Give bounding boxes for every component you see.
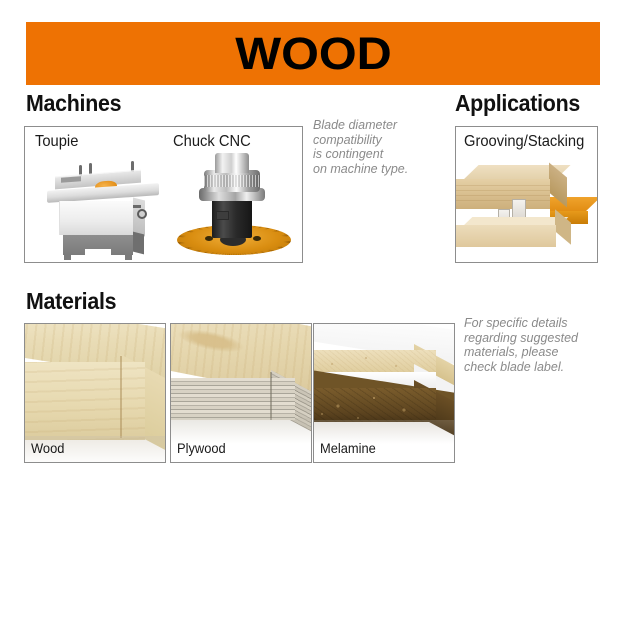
grooving-stacking-icon bbox=[456, 159, 598, 262]
application-label-grooving-stacking: Grooving/Stacking bbox=[464, 133, 584, 151]
material-label-plywood: Plywood bbox=[177, 440, 226, 456]
spindle-moulder-icon bbox=[45, 161, 161, 259]
wood-info-panel: WOOD Machines Applications Toupie C bbox=[0, 0, 621, 622]
machine-label-toupie: Toupie bbox=[35, 133, 78, 151]
applications-card: Grooving/Stacking bbox=[455, 126, 598, 263]
material-card-wood: Wood bbox=[24, 323, 166, 463]
material-card-plywood: Plywood bbox=[170, 323, 312, 463]
materials-section-heading: Materials bbox=[26, 288, 116, 315]
material-label-wood: Wood bbox=[31, 440, 64, 456]
materials-note: For specific details regarding suggested… bbox=[464, 316, 614, 374]
wood-banner: WOOD bbox=[26, 22, 600, 85]
applications-section-heading: Applications bbox=[455, 90, 580, 117]
machines-note: Blade diameter compatibility is continge… bbox=[313, 118, 443, 176]
machines-card: Toupie Chuck CNC bbox=[24, 126, 303, 263]
machine-label-chuck-cnc: Chuck CNC bbox=[173, 133, 251, 151]
material-label-melamine: Melamine bbox=[320, 440, 376, 456]
cnc-chuck-blade-icon bbox=[175, 153, 293, 259]
machines-section-heading: Machines bbox=[26, 90, 121, 117]
page-title: WOOD bbox=[235, 31, 392, 76]
material-card-melamine: Melamine bbox=[313, 323, 455, 463]
